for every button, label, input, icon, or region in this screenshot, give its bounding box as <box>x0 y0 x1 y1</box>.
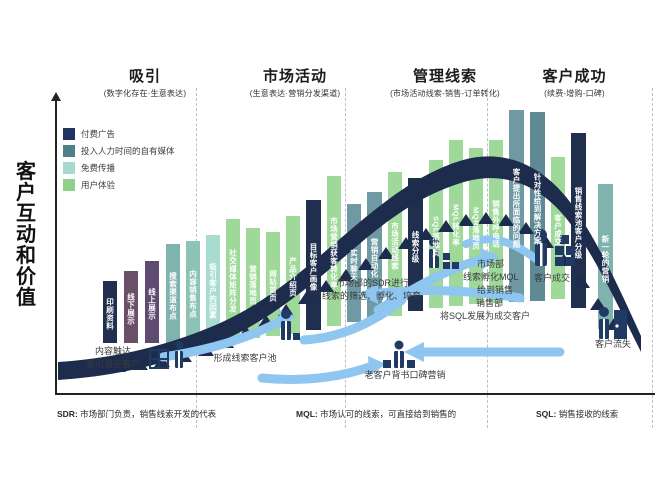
annotation-line: 客户成交 <box>512 272 592 285</box>
legend-label: 付费广告 <box>81 128 115 140</box>
bar-6: 社交媒体矩阵分发 <box>226 219 240 339</box>
bar-label: 线上展示 <box>147 284 158 320</box>
bar-label: 吸引客户的因素 <box>208 259 219 319</box>
bar-label: 内容销售布点 <box>188 266 199 318</box>
bar-label: 市场活动线索 <box>390 218 401 270</box>
bar-label: 市场营销获客转化率 <box>329 213 340 289</box>
annotation-line: 市场部的SDR进行 <box>322 277 472 290</box>
person-icon <box>175 341 183 368</box>
annotation-line: 老客户背书口碑营销 <box>350 369 460 382</box>
infographic-canvas: 吸引 (数字化存在·生意表达) 市场活动 (生意表达·营销分发渠道) 管理线索 … <box>0 0 667 500</box>
legend-swatch-paid-ads <box>63 128 75 140</box>
x-axis <box>55 393 655 395</box>
annotation-sales-dept: 销售部 将SQL发展为成交客户 <box>440 297 610 323</box>
footnote-key: MQL: <box>296 409 318 419</box>
footnote-text: 销售接收的线索 <box>559 409 619 419</box>
bar-12: 实时聊天 <box>347 204 361 322</box>
annotation-content-reach: 内容触达 吸引潜在客户 <box>58 345 168 371</box>
bar-7: 营销落地页 <box>246 228 260 338</box>
bar-label: 新一轮的营销 <box>600 231 611 283</box>
footnote-sdr: SDR: 市场部门负责，销售线索开发的代表 <box>57 408 216 420</box>
legend-item: 用户体验 <box>63 179 175 191</box>
legend-swatch-user-experience <box>63 179 75 191</box>
y-axis <box>55 100 57 395</box>
legend-item: 免费传播 <box>63 162 175 174</box>
annotation-line: 市场部 <box>455 258 565 271</box>
bar-1: 线下展示 <box>124 271 138 343</box>
bar-10: 目标客户画像 <box>306 200 321 330</box>
bar-label: MQR落地页 <box>471 203 482 250</box>
footnote-sql: SQL: 销售接收的线索 <box>536 408 618 420</box>
phase-header-3: 客户成功 (续费-增购-口碑) <box>492 68 657 100</box>
bar-0: 印刷资料 <box>103 281 117 343</box>
phase-separator-2 <box>345 88 346 428</box>
bar-label: 社交媒体矩阵分发 <box>228 245 239 313</box>
annotation-line: 形成线索客户池 <box>190 352 300 365</box>
footnote-key: SDR: <box>57 409 78 419</box>
bar-11: 市场营销获客转化率 <box>327 176 341 326</box>
annotation-line: 吸引潜在客户 <box>58 358 168 371</box>
y-axis-label-char: 和 <box>8 246 44 267</box>
legend-label: 投入人力时间的自有媒体 <box>81 145 175 157</box>
legend-item: 投入人力时间的自有媒体 <box>63 145 175 157</box>
phase-subtitle: (续费-增购-口碑) <box>492 88 657 100</box>
annotation-line: 将SQL发展为成交客户 <box>440 310 610 323</box>
phase-title: 客户成功 <box>492 68 657 86</box>
bar-label: 产品介绍页 <box>288 253 299 297</box>
footnote-mql: MQL: 市场认可的线索，可直接给到销售的 <box>296 408 456 420</box>
bar-label: 搜索渠道布点 <box>168 268 179 320</box>
annotation-lead-pool: 形成线索客户池 <box>190 352 300 365</box>
bar-label: 销售线索池客户分级 <box>573 183 584 259</box>
bar-label: 实时聊天 <box>349 245 360 281</box>
legend-item: 付费广告 <box>63 128 175 140</box>
y-axis-label: 客 户 互 动 和 价 值 <box>8 162 44 309</box>
y-axis-label-char: 动 <box>8 225 44 246</box>
color-legend: 付费广告 投入人力时间的自有媒体 免费传播 用户体验 <box>63 128 175 196</box>
door-icon <box>614 310 627 339</box>
bar-label: SQL落地页 <box>431 212 442 257</box>
y-axis-label-char: 值 <box>8 288 44 309</box>
bar-label: MQL转化率 <box>451 200 462 246</box>
legend-label: 用户体验 <box>81 179 115 191</box>
y-axis-label-char: 客 <box>8 162 44 183</box>
bar-label: 客户提出所面临的问题 <box>511 164 522 248</box>
annotation-line: 客户流失 <box>576 338 650 351</box>
person-icon <box>281 309 300 340</box>
annotation-line: 内容触达 <box>58 345 168 358</box>
footnote-key: SQL: <box>536 409 556 419</box>
y-axis-label-char: 户 <box>8 183 44 204</box>
bar-4: 内容销售布点 <box>186 241 200 343</box>
annotation-deal-closed: 客户成交 <box>512 272 592 285</box>
bar-label: 客户成交 <box>553 210 564 246</box>
bar-label: 印刷资料 <box>105 294 116 330</box>
bar-label: 营销落地页 <box>248 261 259 305</box>
legend-swatch-free-spread <box>63 162 75 174</box>
bar-label: 营销自动化 <box>369 234 380 278</box>
legend-swatch-owned-media <box>63 145 75 157</box>
bar-label: 销售外呼电话 <box>491 196 502 248</box>
bar-label: 线索分级 <box>410 227 421 263</box>
lead-pool-pictogram <box>276 308 302 345</box>
bar-5: 吸引客户的因素 <box>206 235 220 343</box>
legend-label: 免费传播 <box>81 162 115 174</box>
annotation-churn: 客户流失 <box>576 338 650 351</box>
annotation-line: 销售部 <box>440 297 610 310</box>
footnote-text: 市场认可的线索，可直接给到销售的 <box>320 409 456 419</box>
bar-3: 搜索渠道布点 <box>166 244 180 343</box>
annotation-referral: 老客户背书口碑营销 <box>350 369 460 382</box>
bar-label: 线下展示 <box>126 289 137 325</box>
y-axis-label-char: 互 <box>8 204 44 225</box>
annotation-line: 给到销售 <box>455 284 565 297</box>
phase-separator-4 <box>652 88 653 428</box>
bar-label: 针对性给到解决方案 <box>532 169 543 245</box>
bar-label: 目标客户画像 <box>308 239 319 291</box>
footnote-text: 市场部门负责，销售线索开发的代表 <box>80 409 216 419</box>
bar-2: 线上展示 <box>145 261 159 343</box>
person-icon <box>383 341 415 369</box>
bar-label: 网站首页 <box>268 266 279 302</box>
y-axis-label-char: 价 <box>8 267 44 288</box>
